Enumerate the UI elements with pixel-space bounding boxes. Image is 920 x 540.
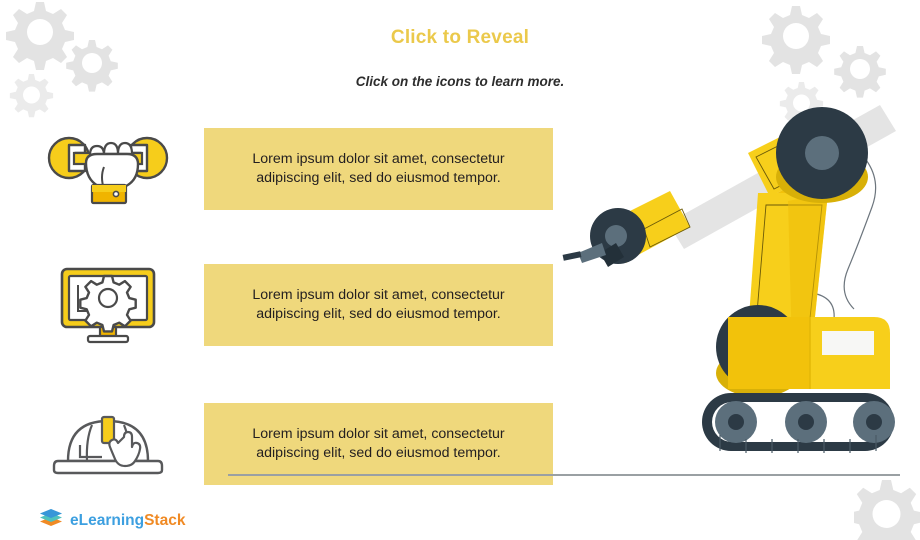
brand-name-primary: eLearning — [70, 512, 144, 529]
tool-head — [563, 208, 646, 267]
card-body-text: Lorem ipsum dolor sit amet, consectetur … — [222, 286, 535, 323]
monitor-gear-icon[interactable] — [44, 262, 172, 346]
page-title: Click to Reveal — [0, 27, 920, 49]
stacked-layers-icon — [38, 509, 64, 533]
brand-name-secondary: Stack — [144, 512, 185, 529]
reveal-card-2[interactable]: Lorem ipsum dolor sit amet, consectetur … — [204, 264, 553, 346]
card-body-text: Lorem ipsum dolor sit amet, consectetur … — [222, 425, 535, 462]
machine-body — [728, 317, 890, 389]
joint-top — [776, 107, 868, 203]
robotic-arm-illustration — [560, 105, 920, 485]
hard-hat-cursor-icon[interactable] — [44, 401, 172, 485]
gear-bottom-right — [854, 478, 920, 540]
page-subtitle: Click on the icons to learn more. — [0, 74, 920, 89]
tracked-base — [702, 393, 895, 453]
card-body-text: Lorem ipsum dolor sit amet, consectetur … — [222, 150, 535, 187]
hand-holding-wrench-icon[interactable] — [44, 126, 172, 210]
content-row-1: Lorem ipsum dolor sit amet, consectetur … — [0, 126, 600, 216]
reveal-card-3[interactable]: Lorem ipsum dolor sit amet, consectetur … — [204, 403, 553, 485]
brand-logo-text: eLearningStack — [70, 512, 185, 530]
sleeve-cuff — [92, 185, 126, 203]
content-row-3: Lorem ipsum dolor sit amet, consectetur … — [0, 401, 600, 491]
fist-shape — [86, 143, 138, 189]
body-panel — [822, 331, 874, 355]
content-row-2: Lorem ipsum dolor sit amet, consectetur … — [0, 262, 600, 352]
gear-icon — [80, 276, 135, 331]
brand-logo[interactable]: eLearningStack — [38, 508, 185, 534]
slide-canvas: Click to Reveal Click on the icons to le… — [0, 0, 920, 540]
hard-hat-shape — [54, 417, 162, 473]
reveal-card-1[interactable]: Lorem ipsum dolor sit amet, consectetur … — [204, 128, 553, 210]
gear-cluster-top-left — [0, 0, 166, 124]
